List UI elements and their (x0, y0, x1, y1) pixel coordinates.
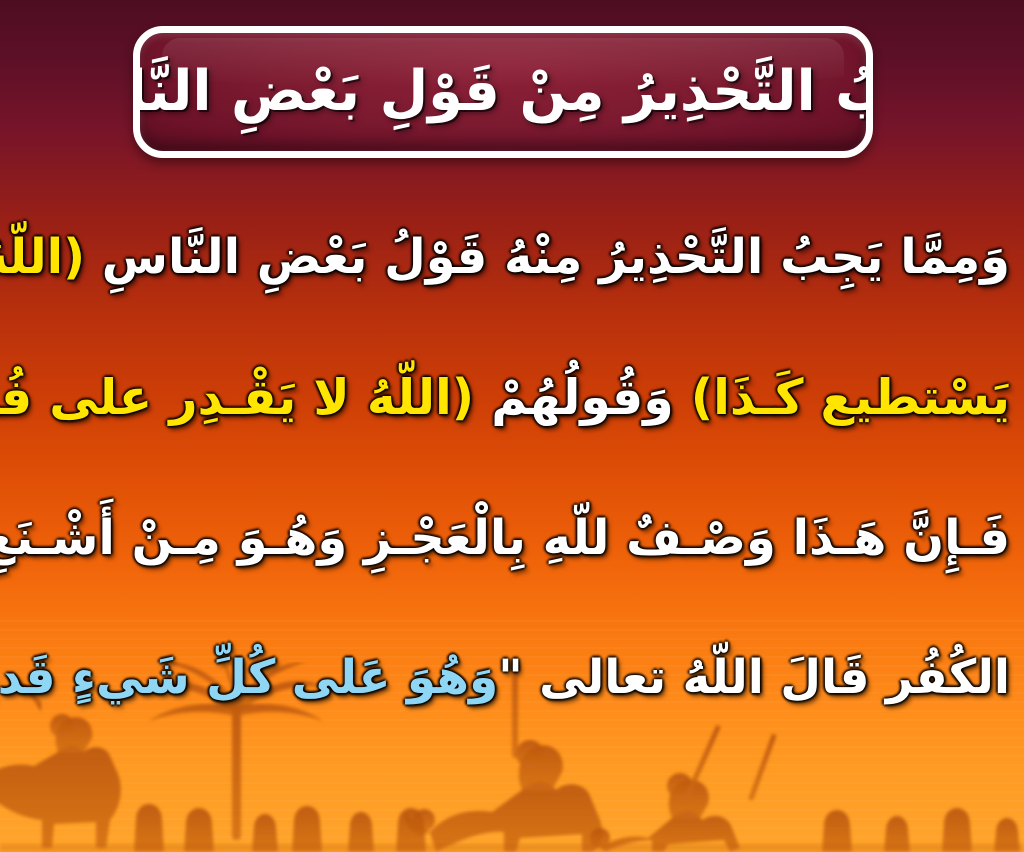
text-run-yellow: (اللّهُ لا (0, 229, 85, 285)
page-title: يَجِبُ التَّحْذِيرُ مِنْ قَوْلِ بَعْضِ ا… (133, 60, 873, 124)
poster-canvas: يَجِبُ التَّحْذِيرُ مِنْ قَوْلِ بَعْضِ ا… (0, 0, 1024, 852)
text-line-2: يَسْتطيع كَـذَا) وَقُولُهُمْ (اللّهُ لا … (14, 372, 1010, 423)
text-run-yellow: يَسْتطيع كَـذَا) (674, 369, 1010, 426)
walking-figures (134, 804, 1020, 852)
text-run-yellow: (اللّهُ لا يَقْـدِر على فُـلان) (0, 369, 474, 426)
text-line-1: وَمِمَّا يَجِبُ التَّحْذِيرُ مِنْهُ قَوْ… (14, 232, 1010, 282)
text-run-white: وَقُولُهُمْ (474, 369, 674, 426)
text-run-white: وَمِمَّا يَجِبُ التَّحْذِيرُ مِنْهُ قَوْ… (85, 229, 1010, 285)
body-text-block: وَمِمَّا يَجِبُ التَّحْذِيرُ مِنْهُ قَوْ… (14, 232, 1010, 702)
text-run-quran-quote: وَهُوَ عَلى كُلِّ شَيءٍ قَديرٌ (0, 650, 498, 705)
camel-rider (590, 725, 777, 852)
text-run-white: الكُفُر قَالَ اللّهُ تعالى " (498, 650, 1010, 705)
banner-plate: يَجِبُ التَّحْذِيرُ مِنْ قَوْلِ بَعْضِ ا… (133, 26, 873, 158)
title-banner: يَجِبُ التَّحْذِيرُ مِنْ قَوْلِ بَعْضِ ا… (133, 26, 873, 158)
text-line-4: الكُفُر قَالَ اللّهُ تعالى "وَهُوَ عَلى … (14, 653, 1010, 702)
text-run-white: فَـإِنَّ هَـذَا وَصْـفٌ للّهِ بِالْعَجْـ… (0, 510, 1010, 566)
text-line-3: فَـإِنَّ هَـذَا وَصْـفٌ للّهِ بِالْعَجْـ… (14, 513, 1010, 563)
